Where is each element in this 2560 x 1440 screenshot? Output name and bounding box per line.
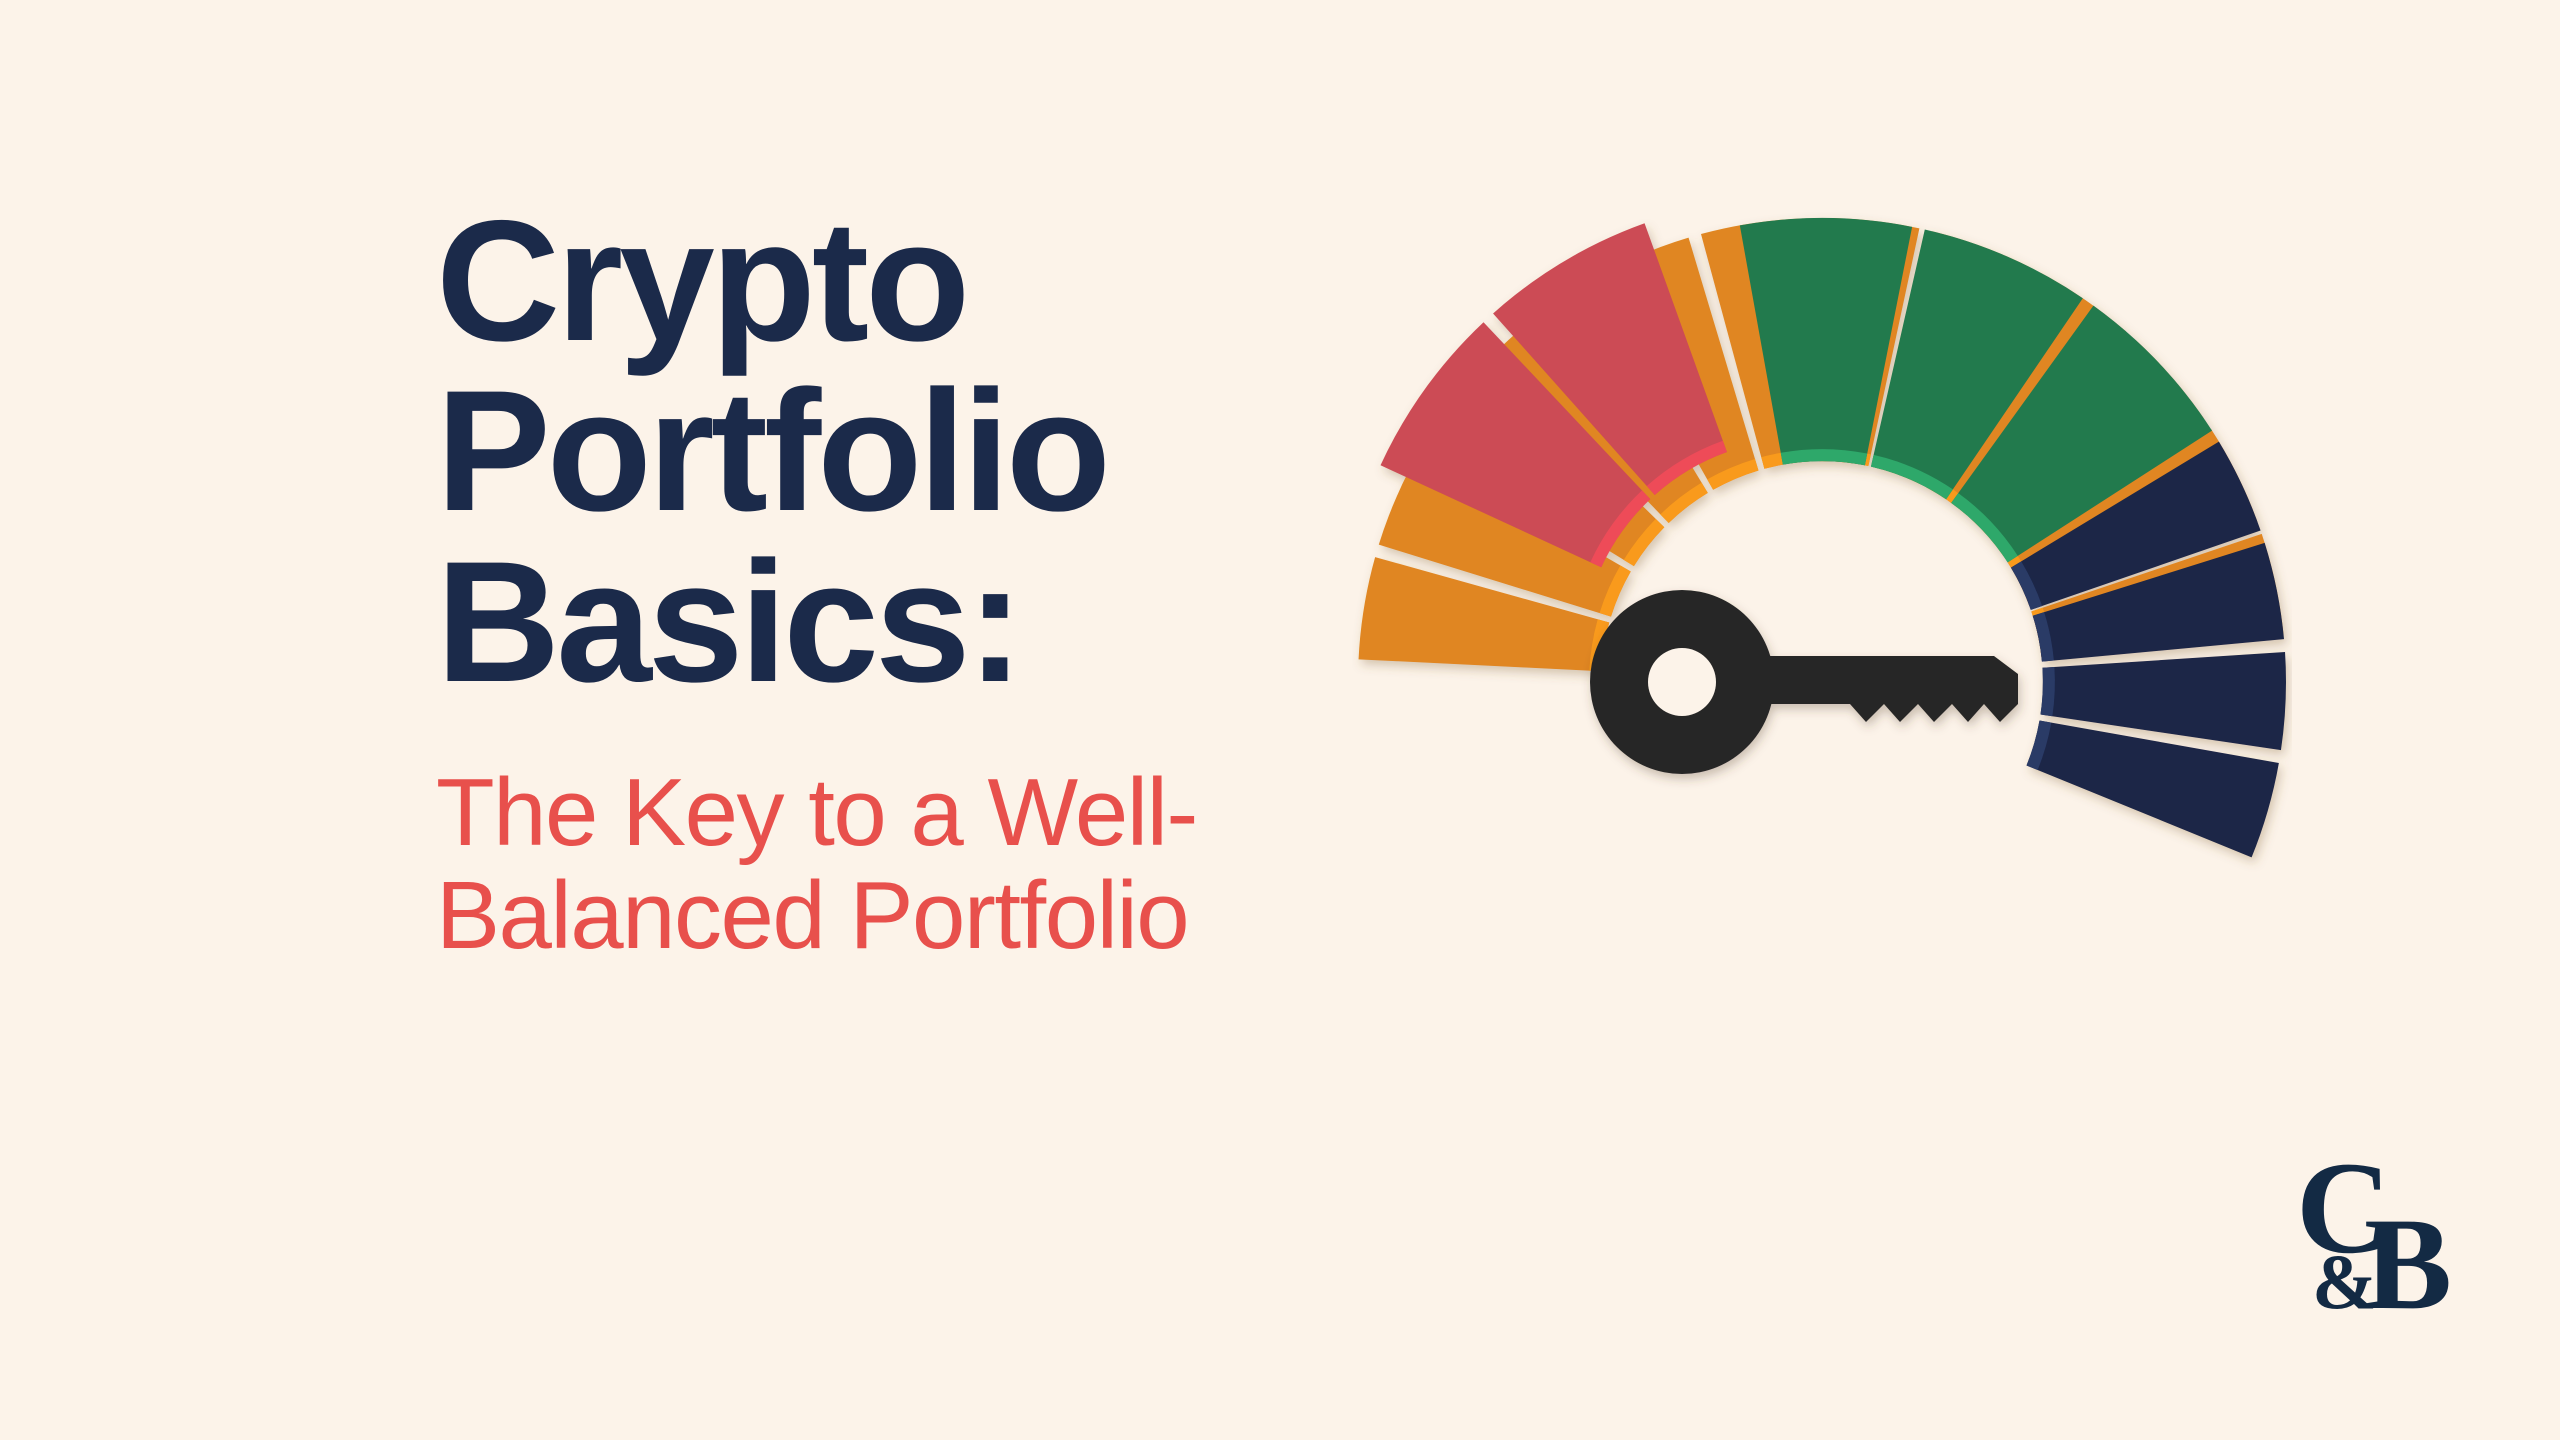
cb-logo: C & B: [2296, 1148, 2476, 1328]
donut-segment-edge: [2041, 667, 2055, 716]
page-title: Crypto Portfolio Basics:: [436, 196, 1436, 707]
logo-letter-b: B: [2364, 1190, 2452, 1328]
poster-canvas: Crypto Portfolio Basics: The Key to a We…: [0, 0, 2560, 1440]
text-block: Crypto Portfolio Basics: The Key to a We…: [436, 196, 1436, 968]
donut-segment-edge: [1781, 449, 1867, 465]
key-icon: [1590, 590, 2018, 774]
subhead-line-1: The Key to a Well-: [436, 761, 1436, 865]
page-subtitle: The Key to a Well- Balanced Portfolio: [436, 707, 1436, 968]
donut-segment-group: [1359, 218, 2286, 857]
headline-line-1: Crypto: [436, 196, 1436, 366]
subhead-line-2: Balanced Portfolio: [436, 864, 1436, 968]
headline-line-2: Portfolio: [436, 366, 1436, 536]
portfolio-donut-chart: [1352, 212, 2292, 1152]
headline-line-3: Basics:: [436, 537, 1436, 707]
